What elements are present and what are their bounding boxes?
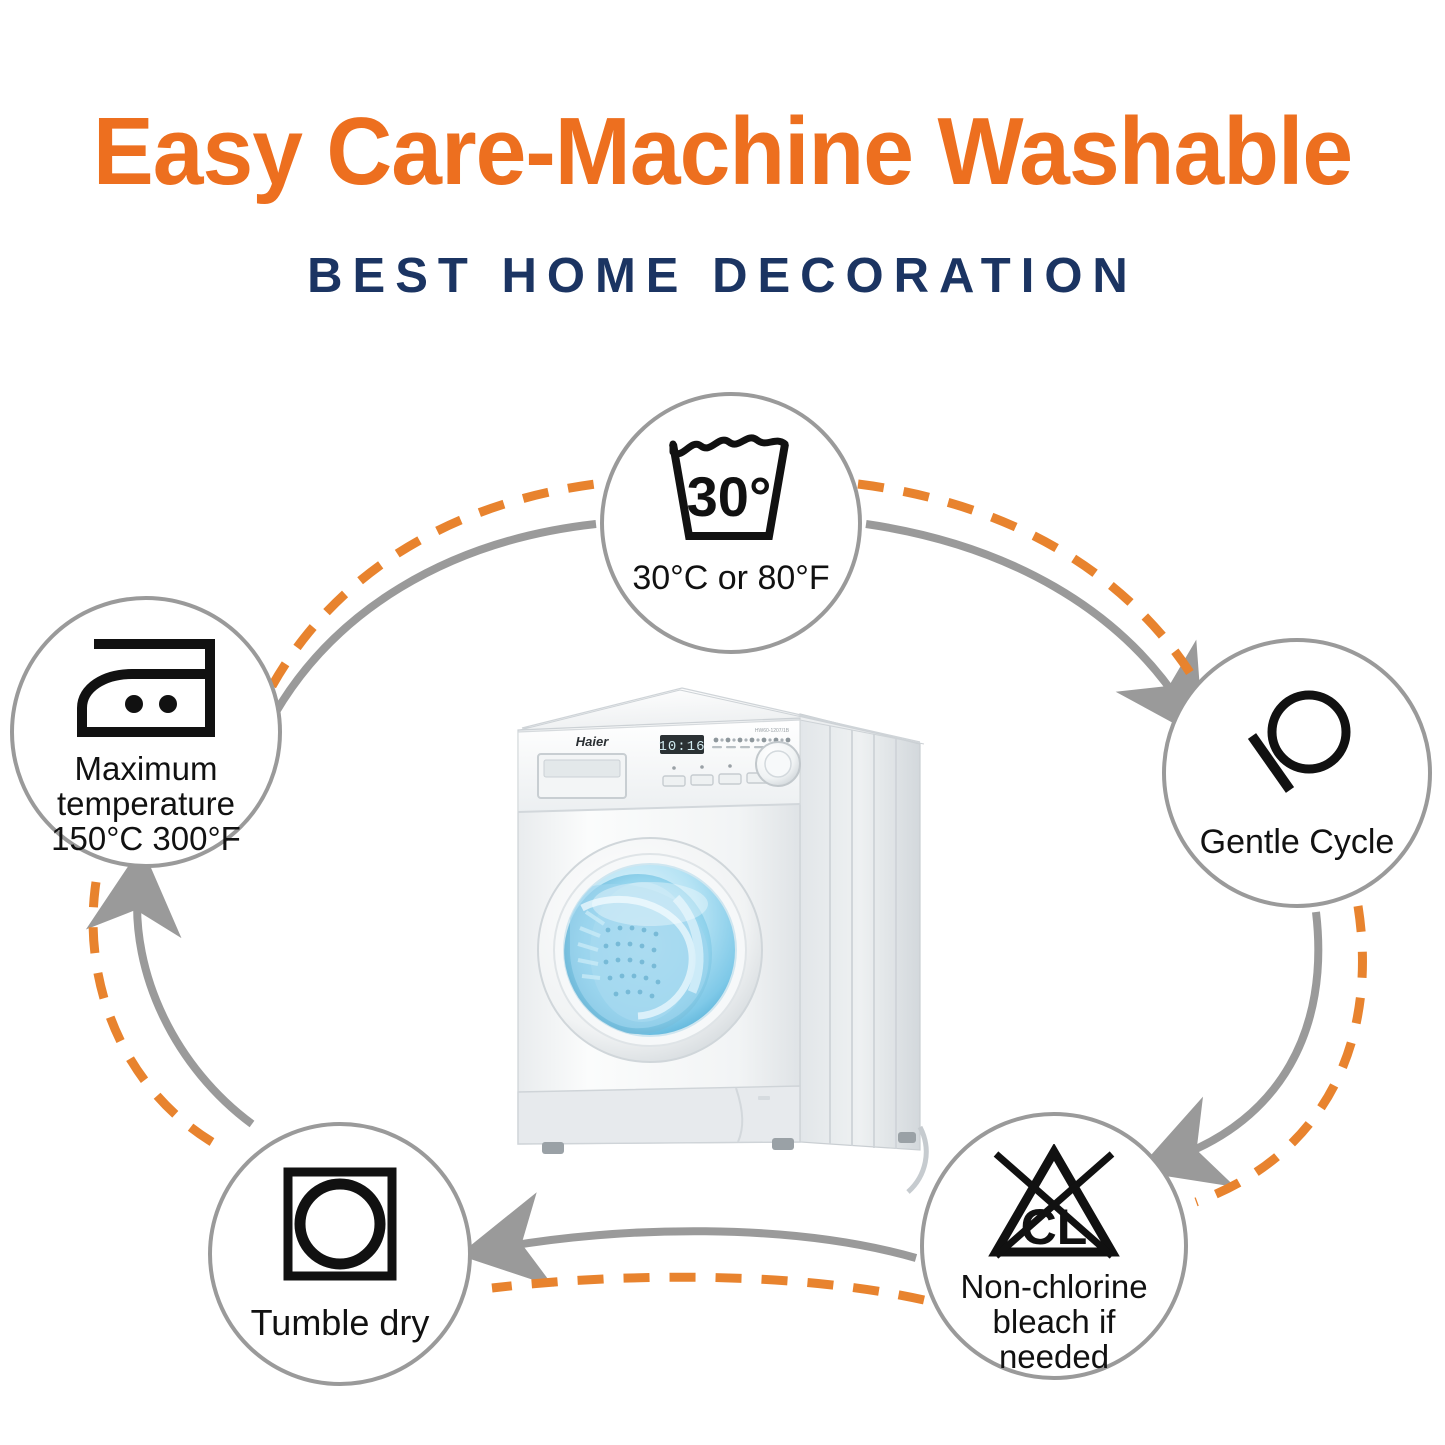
- washer-button-4[interactable]: [747, 773, 769, 783]
- badge-iron-temperature[interactable]: Maximum temperature 150°C 300°F: [10, 596, 282, 868]
- washer-button-3[interactable]: [719, 774, 741, 784]
- washer-foot-left: [542, 1142, 564, 1154]
- washer-brand-label: Haier: [576, 734, 609, 749]
- washer-kick-plate: [518, 1086, 800, 1144]
- badge-gentle-caption: Gentle Cycle: [1200, 824, 1395, 860]
- washer-kick-latch: [758, 1096, 770, 1100]
- badge-tumble-dry[interactable]: Tumble dry: [208, 1122, 472, 1386]
- iron-two-dots-icon: [70, 632, 222, 744]
- washer-model-label: HW60-1207/1B: [755, 728, 790, 734]
- gentle-cycle-icon: [1232, 686, 1362, 806]
- connector-bleach-to-tumble-dashed: [492, 1277, 924, 1300]
- badge-wash-temperature[interactable]: 30° 30°C or 80°F: [600, 392, 862, 654]
- infographic-canvas: Easy Care-Machine Washable BEST HOME DEC…: [0, 0, 1445, 1445]
- no-chlorine-bleach-icon: CL: [984, 1144, 1124, 1264]
- wash-tub-30-icon: 30°: [661, 430, 801, 550]
- tumble-dry-icon: [280, 1166, 400, 1282]
- svg-text:30°: 30°: [687, 465, 772, 528]
- badge-wash-caption: 30°C or 80°F: [632, 560, 829, 596]
- badge-tumble-caption: Tumble dry: [251, 1304, 430, 1342]
- connector-bleach-to-tumble: [498, 1231, 916, 1258]
- badge-bleach-caption: Non-chlorine bleach if needed: [960, 1270, 1147, 1375]
- washer-foot-right: [772, 1138, 794, 1150]
- badge-non-chlorine-bleach[interactable]: CL Non-chlorine bleach if needed: [920, 1112, 1188, 1380]
- washer-drawer-handle: [544, 760, 620, 777]
- badge-iron-caption: Maximum temperature 150°C 300°F: [51, 752, 241, 857]
- washer-display-value: 10:16: [658, 739, 705, 755]
- washer-button-2[interactable]: [691, 775, 713, 785]
- connector-gentle-to-bleach: [1174, 912, 1318, 1158]
- washer-button-1[interactable]: [663, 776, 685, 786]
- washing-machine-image: Haier HW60-1207/1B 10:16: [500, 672, 930, 1212]
- connector-tumble-to-iron-dashed: [93, 882, 212, 1142]
- washer-foot-rear: [898, 1132, 916, 1143]
- washer-side-panel: [800, 714, 920, 1150]
- badge-gentle-cycle[interactable]: Gentle Cycle: [1162, 638, 1432, 908]
- connector-tumble-to-iron: [137, 886, 252, 1124]
- connector-gentle-to-bleach-dashed: [1196, 906, 1362, 1202]
